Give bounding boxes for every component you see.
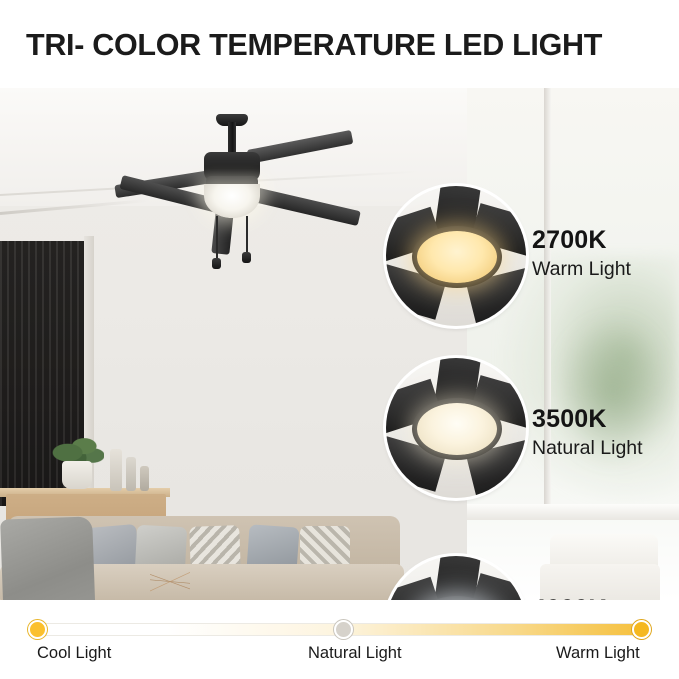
pull-chain-knob[interactable] [242, 252, 251, 263]
page-title: TRI- COLOR TEMPERATURE LED LIGHT [26, 28, 602, 63]
slider-knob-warm[interactable] [632, 620, 651, 639]
slider-label-natural: Natural Light [308, 644, 402, 663]
title-bar: TRI- COLOR TEMPERATURE LED LIGHT [0, 0, 679, 88]
dried-stems [150, 556, 190, 600]
pull-chain[interactable] [246, 216, 248, 254]
room-photo: 2700K Warm Light 3500K Natural Light [0, 86, 679, 600]
plant-pot [62, 461, 92, 489]
pull-chain-knob[interactable] [212, 258, 221, 269]
slider-knob-cool[interactable] [28, 620, 47, 639]
callout-name: Natural Light [532, 439, 643, 459]
fan-downrod [228, 122, 236, 154]
callout-kelvin: 2700K [532, 228, 631, 253]
fan-light-globe [204, 184, 260, 218]
callout-name: Warm Light [532, 260, 631, 280]
color-temperature-slider: Cool Light Natural Light Warm Light [0, 600, 679, 679]
slider-label-cool: Cool Light [37, 644, 111, 663]
callout-light-lens [417, 403, 497, 455]
ceiling-fan [118, 110, 418, 320]
callout-kelvin: 4000K [532, 597, 620, 600]
product-infographic: TRI- COLOR TEMPERATURE LED LIGHT [0, 0, 679, 679]
callout-label-4000k: 4000K Cool Light [532, 597, 620, 600]
callout-4000k [386, 556, 526, 600]
callout-label-2700k: 2700K Warm Light [532, 228, 631, 280]
throw-blanket [0, 516, 96, 600]
fan-blade [247, 130, 354, 164]
vase-tall [110, 449, 122, 491]
callout-label-3500k: 3500K Natural Light [532, 407, 643, 459]
callout-3500k [386, 358, 526, 498]
pull-chain[interactable] [216, 216, 218, 260]
callout-2700k [386, 186, 526, 326]
window-sill [467, 504, 679, 520]
callout-light-lens [417, 231, 497, 283]
slider-label-warm: Warm Light [556, 644, 640, 663]
slider-knob-natural[interactable] [334, 620, 353, 639]
callout-kelvin: 3500K [532, 407, 643, 432]
fan-blade [248, 186, 361, 226]
vase-medium [126, 457, 136, 491]
vase-short [140, 466, 149, 491]
